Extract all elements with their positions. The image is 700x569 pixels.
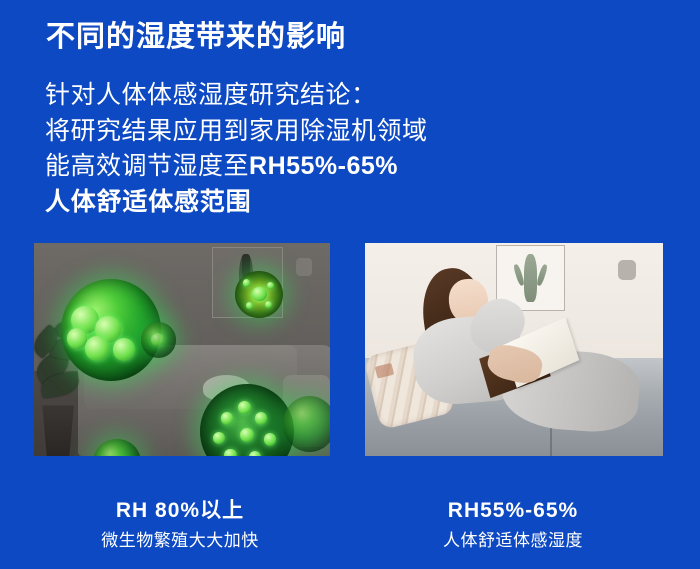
photo-comfort-humidity <box>365 243 663 456</box>
bright-living-room-scene <box>365 243 663 456</box>
page-title: 不同的湿度带来的影响 <box>46 17 346 57</box>
germ-sphere-icon <box>283 396 330 451</box>
woman-reading <box>395 264 639 451</box>
humidity-range-highlight: RH55%-65% <box>249 152 398 180</box>
germ-sphere-icon <box>235 271 282 318</box>
body-line-3-prefix: 能高效调节湿度至 <box>45 152 249 180</box>
caption-title: RH 80%以上 <box>30 497 330 525</box>
body-line-4: 人体舒适体感范围 <box>45 185 428 221</box>
caption-subtitle: 微生物繁殖大大加快 <box>30 528 330 554</box>
germ-sphere-icon <box>141 322 177 358</box>
body-line-2: 将研究结果应用到家用除湿机领域 <box>45 114 428 150</box>
caption-subtitle: 人体舒适体感湿度 <box>363 528 663 554</box>
plant-pot <box>39 405 77 456</box>
body-line-3: 能高效调节湿度至RH55%-65% <box>45 149 428 185</box>
dim-living-room-scene <box>34 243 330 456</box>
body-line-1: 针对人体体感湿度研究结论： <box>45 78 428 114</box>
wall-knob-icon <box>296 258 312 276</box>
caption-high-humidity: RH 80%以上 微生物繁殖大大加快 <box>30 497 330 554</box>
photo-high-humidity <box>34 243 330 456</box>
caption-comfort-humidity: RH55%-65% 人体舒适体感湿度 <box>363 497 663 554</box>
humidity-infographic: 不同的湿度带来的影响 针对人体体感湿度研究结论： 将研究结果应用到家用除湿机领域… <box>0 0 700 569</box>
caption-title: RH55%-65% <box>363 497 663 525</box>
body-copy: 针对人体体感湿度研究结论： 将研究结果应用到家用除湿机领域 能高效调节湿度至RH… <box>45 78 428 220</box>
